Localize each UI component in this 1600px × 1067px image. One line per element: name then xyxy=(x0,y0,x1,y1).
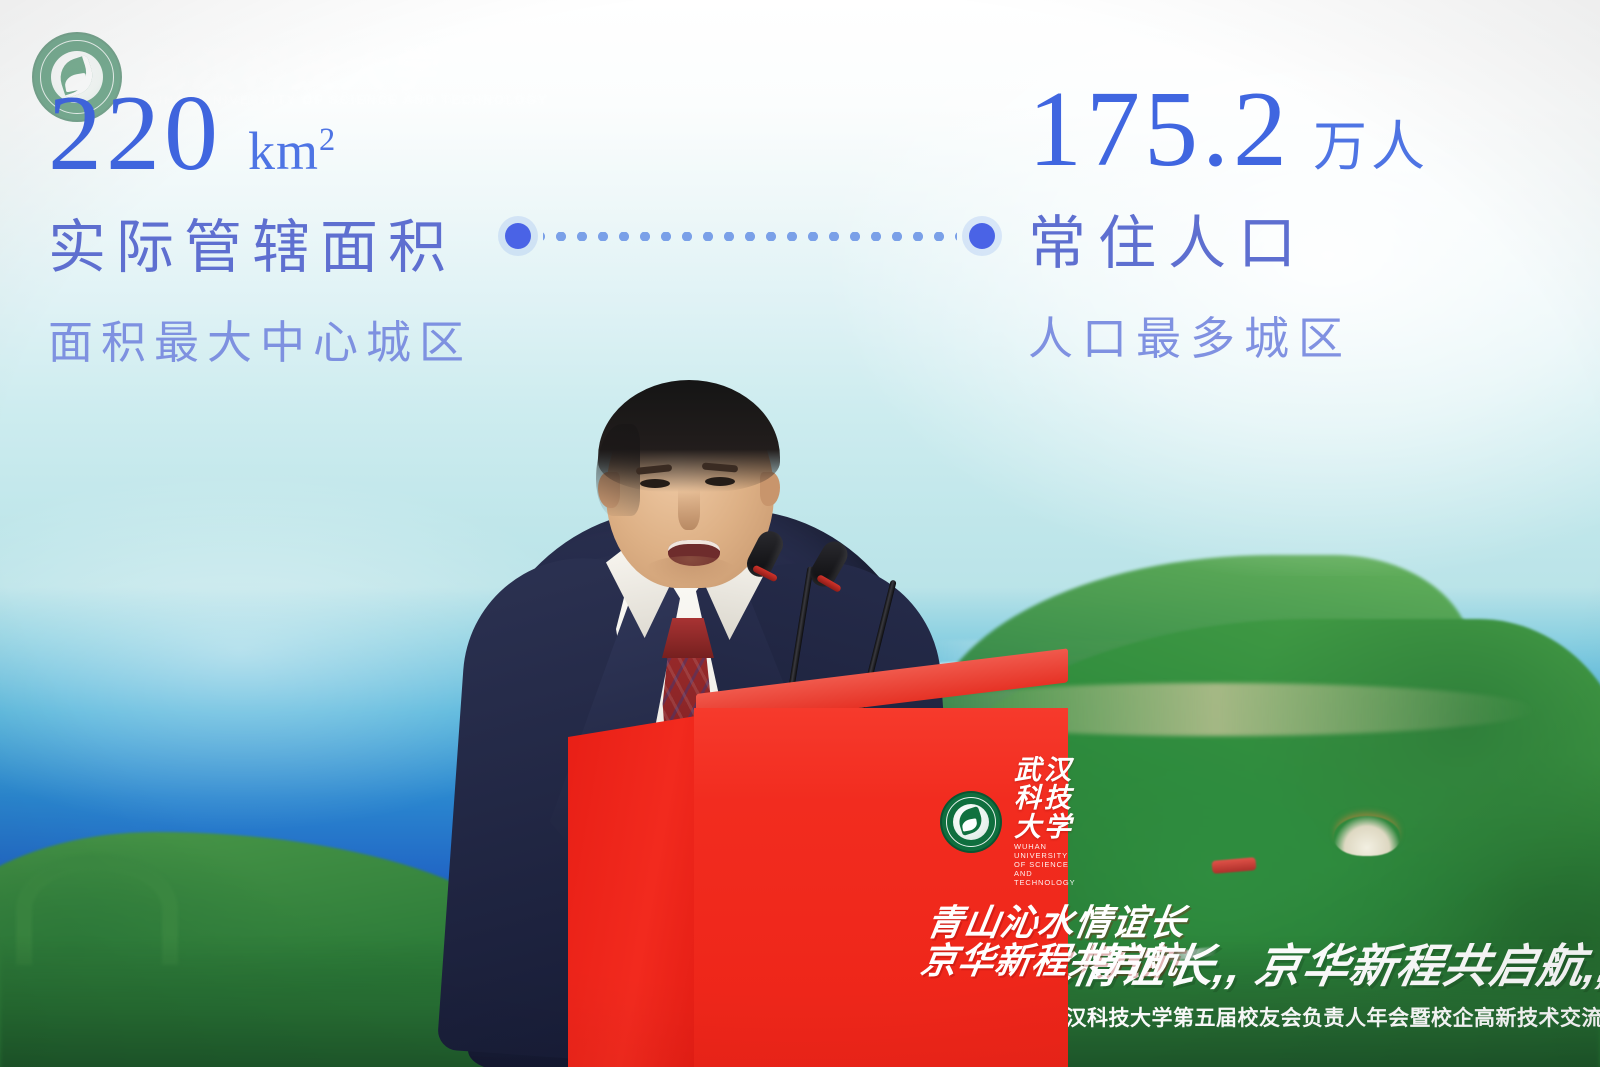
connector-dot-left xyxy=(505,223,531,249)
eye-left xyxy=(640,479,670,488)
lectern-side-panel xyxy=(568,716,696,1067)
stat-population-label: 常住人口 xyxy=(1028,196,1429,280)
lectern-slogan-line1: 青山沁水情谊长 xyxy=(924,904,1230,942)
eye-right xyxy=(705,477,735,486)
lectern-front-panel: 武汉科技大学 WUHAN UNIVERSITY OF SCIENCE AND T… xyxy=(694,708,1068,1067)
stat-area: 220 km2 实际管辖面积 面积最大中心城区 xyxy=(48,82,472,371)
stat-area-value: 220 xyxy=(48,82,222,186)
stat-population-value: 175.2 xyxy=(1028,78,1291,182)
nose xyxy=(678,488,700,530)
lectern-logo-name-en: WUHAN UNIVERSITY OF SCIENCE AND TECHNOLO… xyxy=(1014,842,1076,887)
lectern: 武汉科技大学 WUHAN UNIVERSITY OF SCIENCE AND T… xyxy=(568,694,1068,1067)
stat-area-label: 实际管辖面积 xyxy=(48,200,472,284)
university-seal-icon xyxy=(942,793,1000,851)
caption-text: 武汉科技大学第五届校友会负责人年会暨校企高新技术交流会 xyxy=(1044,1002,1600,1032)
chin-shadow xyxy=(644,556,736,586)
lectern-logo-name-cn: 武汉科技大学 xyxy=(1014,756,1076,841)
lectern-logo: 武汉科技大学 WUHAN UNIVERSITY OF SCIENCE AND T… xyxy=(942,756,1076,887)
stat-population-unit: 万人 xyxy=(1313,102,1429,181)
connector-dots xyxy=(543,232,957,241)
lectern-slogan-line2: 京华新程共启航 xyxy=(918,942,1224,980)
connector-dot-right xyxy=(969,223,995,249)
stat-population: 175.2 万人 常住人口 人口最多城区 xyxy=(1028,78,1429,367)
screenshot-stage: 武汉科技大学 WUHAN UNIVERSITY OF SCIENCE AND T… xyxy=(0,0,1600,1067)
stat-area-unit: km2 xyxy=(248,120,336,182)
stat-population-sublabel: 人口最多城区 xyxy=(1028,302,1429,367)
dotted-connector-icon xyxy=(505,216,995,256)
stat-area-sublabel: 面积最大中心城区 xyxy=(48,306,472,371)
lectern-slogan: 青山沁水情谊长 京华新程共启航 xyxy=(918,904,1230,980)
